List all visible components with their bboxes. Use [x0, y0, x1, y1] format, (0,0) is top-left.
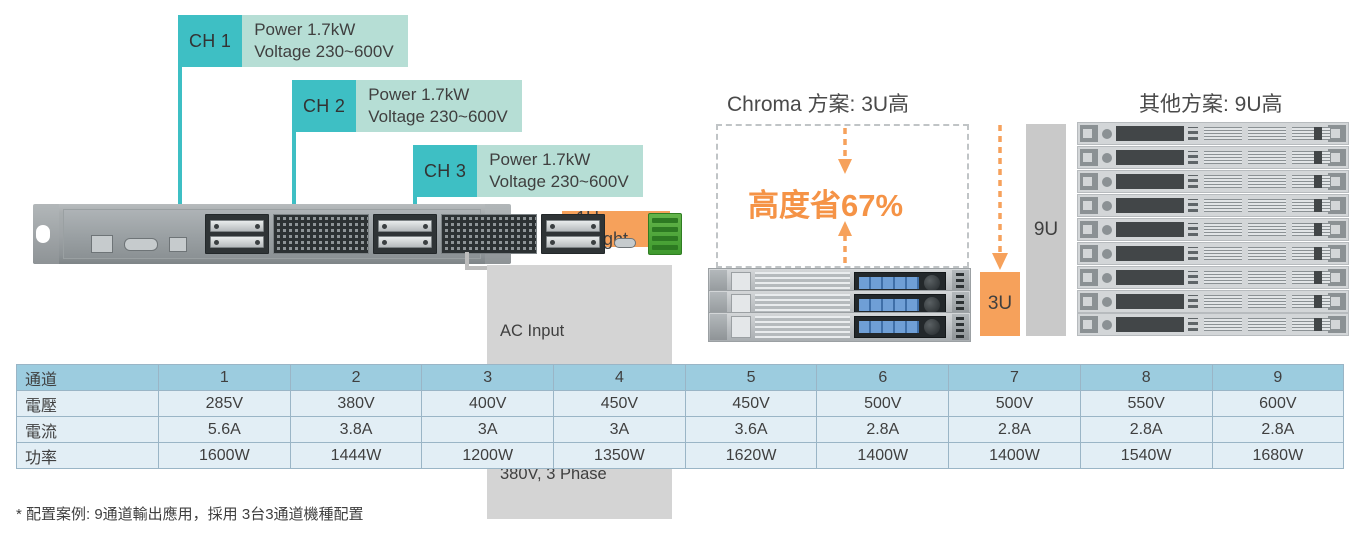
unit-ear-left — [1080, 221, 1098, 238]
table-cell: 1350W — [554, 443, 686, 469]
channel-2-power: Power 1.7kW — [368, 84, 507, 106]
unit-end-block — [1314, 271, 1322, 284]
channel-callout-2: CH 2 Power 1.7kW Voltage 230~600V — [292, 80, 522, 132]
unit-ear-left — [1080, 149, 1098, 166]
unit-vent-grill — [1292, 318, 1330, 331]
row-label-power: 功率 — [17, 443, 159, 469]
table-header-row: 通道 1 2 3 4 5 6 7 8 9 — [17, 365, 1344, 391]
unit-vent-grill — [1204, 127, 1242, 140]
unit-knob — [1102, 129, 1112, 139]
other-rack-unit — [1077, 146, 1349, 169]
ethernet-port — [91, 235, 113, 253]
unit-indicator-bars — [1188, 271, 1198, 284]
unit-knob — [1102, 201, 1112, 211]
other-rack-unit — [1077, 266, 1349, 289]
unit-vent-grill — [1248, 199, 1286, 212]
height-saving-text: 高度省67% — [748, 180, 903, 225]
footnote-text: * 配置案例: 9通道輸出應用，採用 3台3通道機種配置 — [16, 503, 364, 524]
unit-ear-left — [710, 314, 727, 340]
unit-ear-left — [1080, 269, 1098, 286]
table-cell: 3.6A — [685, 417, 817, 443]
usb-port — [169, 237, 187, 252]
small-switch — [614, 238, 636, 248]
unit-dial-knob — [924, 319, 940, 335]
table-cell: 2.8A — [817, 417, 949, 443]
channel-1-connector — [205, 214, 269, 254]
channel-1-voltage: Voltage 230~600V — [254, 41, 393, 63]
unit-knob — [1102, 153, 1112, 163]
unit-ear-right — [1328, 269, 1346, 286]
unit-indicator-bars — [1188, 199, 1198, 212]
unit-ear-right — [1328, 197, 1346, 214]
terminal-pin — [652, 236, 678, 241]
table-row-power: 功率 1600W 1444W 1200W 1350W 1620W 1400W 1… — [17, 443, 1344, 469]
unit-vent-grill — [1292, 151, 1330, 164]
table-cell: 285V — [159, 391, 291, 417]
unit-vent-grill — [1248, 223, 1286, 236]
chroma-height-bar-3u: 3U — [980, 272, 1020, 336]
jack — [378, 220, 432, 232]
unit-vent-grill — [1292, 127, 1330, 140]
unit-indicator-bars — [1188, 175, 1198, 188]
unit-dial-knob — [924, 297, 940, 313]
table-header-cell: 8 — [1080, 365, 1212, 391]
chroma-solution-title: Chroma 方案: 3U高 — [727, 88, 909, 118]
table-cell: 2.8A — [1212, 417, 1344, 443]
table-cell: 1600W — [159, 443, 291, 469]
unit-vent-grill — [1248, 175, 1286, 188]
unit-display-panel — [1116, 126, 1184, 141]
unit-knob — [1102, 320, 1112, 330]
table-cell: 500V — [817, 391, 949, 417]
unit-display-panel — [1116, 222, 1184, 237]
other-rack-unit — [1077, 194, 1349, 217]
table-cell: 600V — [1212, 391, 1344, 417]
unit-vent-grill — [1292, 247, 1330, 260]
table-header-cell: 5 — [685, 365, 817, 391]
unit-display-panel — [1116, 246, 1184, 261]
unit-ear-left — [1080, 293, 1098, 310]
channel-1-specs: Power 1.7kW Voltage 230~600V — [242, 15, 407, 67]
other-rack-unit — [1077, 242, 1349, 265]
table-cell: 1540W — [1080, 443, 1212, 469]
unit-vent-grill — [1248, 151, 1286, 164]
table-cell: 500V — [949, 391, 1081, 417]
ear-slot-left — [36, 225, 50, 243]
unit-knob — [1102, 177, 1112, 187]
table-cell: 450V — [554, 391, 686, 417]
unit-vent-grill — [1248, 247, 1286, 260]
unit-indicator-bars — [1188, 295, 1198, 308]
unit-display-panel — [1116, 270, 1184, 285]
unit-dial-knob — [924, 275, 940, 291]
unit-vent-grill — [1204, 175, 1242, 188]
table-header-cell: 4 — [554, 365, 686, 391]
unit-vent-grill — [1248, 271, 1286, 284]
unit-vent-grill — [1292, 223, 1330, 236]
terminal-pin — [652, 227, 678, 232]
unit-vent-grill — [1248, 318, 1286, 331]
channel-2-voltage: Voltage 230~600V — [368, 106, 507, 128]
channel-3-connector — [541, 214, 605, 254]
ch2-connector-line — [292, 125, 296, 212]
table-cell: 2.8A — [949, 417, 1081, 443]
table-row-voltage: 電壓 285V 380V 400V 450V 450V 500V 500V 55… — [17, 391, 1344, 417]
table-cell: 550V — [1080, 391, 1212, 417]
unit-display-panel — [1116, 150, 1184, 165]
unit-vent-slots — [755, 316, 850, 338]
vent-grill-1 — [273, 214, 369, 254]
channel-callout-1: CH 1 Power 1.7kW Voltage 230~600V — [178, 15, 408, 67]
unit-indicator-dots — [956, 316, 964, 338]
unit-ear-right — [1328, 316, 1346, 333]
unit-ear-left — [1080, 197, 1098, 214]
unit-end-block — [1314, 127, 1322, 140]
device-front-panel — [63, 209, 481, 259]
rack-device-1u — [33, 204, 511, 264]
table-cell: 1444W — [290, 443, 422, 469]
channel-callout-3: CH 3 Power 1.7kW Voltage 230~600V — [413, 145, 643, 197]
chroma-3u-stack — [708, 268, 971, 336]
unit-ear-left — [1080, 245, 1098, 262]
table-header-cell: 1 — [159, 365, 291, 391]
unit-vent-grill — [1204, 247, 1242, 260]
other-rack-unit — [1077, 313, 1349, 336]
unit-display-panel — [1116, 294, 1184, 309]
unit-knob — [1102, 225, 1112, 235]
unit-indicator-bars — [1188, 247, 1198, 260]
unit-indicator-bars — [1188, 127, 1198, 140]
jack — [210, 236, 264, 248]
table-header-cell: 9 — [1212, 365, 1344, 391]
unit-vent-grill — [1292, 295, 1330, 308]
vent-grill-2 — [441, 214, 537, 254]
unit-end-block — [1314, 295, 1322, 308]
unit-vent-grill — [1204, 223, 1242, 236]
table-cell: 400V — [422, 391, 554, 417]
unit-vent-grill — [1204, 199, 1242, 212]
ch1-connector-line — [178, 60, 182, 212]
unit-vent-grill — [1248, 127, 1286, 140]
unit-vent-grill — [1204, 295, 1242, 308]
channel-3-tag: CH 3 — [413, 145, 477, 197]
table-cell: 1620W — [685, 443, 817, 469]
height-drop-arrow — [991, 125, 1009, 271]
unit-vent-grill — [1292, 175, 1330, 188]
unit-end-block — [1314, 151, 1322, 164]
unit-end-block — [1314, 223, 1322, 236]
jack — [546, 220, 600, 232]
saving-arrow-up — [836, 221, 854, 267]
serial-port — [124, 238, 158, 251]
unit-ear-left — [1080, 125, 1098, 142]
table-cell: 1680W — [1212, 443, 1344, 469]
channel-1-power: Power 1.7kW — [254, 19, 393, 41]
table-cell: 2.8A — [1080, 417, 1212, 443]
device-ear-left — [33, 204, 59, 264]
unit-end-block — [1314, 175, 1322, 188]
unit-ear-right — [1328, 125, 1346, 142]
table-cell: 1200W — [422, 443, 554, 469]
unit-ear-right — [1328, 173, 1346, 190]
channel-3-specs: Power 1.7kW Voltage 230~600V — [477, 145, 642, 197]
unit-indicator-bars — [1188, 318, 1198, 331]
unit-vent-grill — [1204, 318, 1242, 331]
row-label-voltage: 電壓 — [17, 391, 159, 417]
unit-screen — [859, 321, 919, 333]
unit-screen — [859, 299, 919, 311]
unit-display-panel — [1116, 198, 1184, 213]
unit-vent-grill — [1292, 199, 1330, 212]
spec-table: 通道 1 2 3 4 5 6 7 8 9 電壓 285V 380V 400V 4… — [16, 364, 1344, 469]
table-header-label: 通道 — [17, 365, 159, 391]
table-header-cell: 2 — [290, 365, 422, 391]
ac-input-title: AC Input — [500, 320, 659, 344]
table-cell: 3A — [422, 417, 554, 443]
table-header-cell: 6 — [817, 365, 949, 391]
other-9u-stack — [1077, 122, 1349, 336]
channel-3-voltage: Voltage 230~600V — [489, 171, 628, 193]
channel-2-specs: Power 1.7kW Voltage 230~600V — [356, 80, 521, 132]
unit-end-block — [1314, 199, 1322, 212]
unit-ear-right — [1328, 245, 1346, 262]
unit-knob — [1102, 249, 1112, 259]
table-cell: 1400W — [949, 443, 1081, 469]
unit-indicator-bars — [1188, 223, 1198, 236]
other-rack-unit — [1077, 170, 1349, 193]
unit-end-block — [1314, 247, 1322, 260]
unit-end-block — [1314, 318, 1322, 331]
saving-arrow-down — [836, 128, 854, 176]
other-height-bar-9u: 9U — [1026, 124, 1066, 336]
table-cell: 3.8A — [290, 417, 422, 443]
unit-knob — [1102, 273, 1112, 283]
unit-ear-right — [1328, 293, 1346, 310]
unit-display-panel — [1116, 174, 1184, 189]
table-cell: 450V — [685, 391, 817, 417]
terminal-pin — [652, 218, 678, 223]
table-header-cell: 7 — [949, 365, 1081, 391]
channel-1-tag: CH 1 — [178, 15, 242, 67]
row-label-current: 電流 — [17, 417, 159, 443]
terminal-pin — [652, 245, 678, 250]
table-cell: 380V — [290, 391, 422, 417]
unit-ear-left — [1080, 173, 1098, 190]
table-row-current: 電流 5.6A 3.8A 3A 3A 3.6A 2.8A 2.8A 2.8A 2… — [17, 417, 1344, 443]
unit-indicator-bars — [1188, 151, 1198, 164]
unit-control-box — [731, 316, 751, 338]
table-header-cell: 3 — [422, 365, 554, 391]
table-cell: 3A — [554, 417, 686, 443]
jack — [546, 236, 600, 248]
ac-terminal-block — [648, 213, 682, 255]
channel-2-tag: CH 2 — [292, 80, 356, 132]
jack — [378, 236, 432, 248]
channel-3-power: Power 1.7kW — [489, 149, 628, 171]
jack — [210, 220, 264, 232]
unit-knob — [1102, 297, 1112, 307]
other-rack-unit — [1077, 122, 1349, 145]
unit-vent-grill — [1204, 151, 1242, 164]
chroma-rack-unit — [708, 312, 971, 342]
unit-display-panel — [854, 316, 946, 338]
channel-2-connector — [373, 214, 437, 254]
unit-ear-left — [1080, 316, 1098, 333]
unit-ear-right — [1328, 221, 1346, 238]
unit-vent-grill — [1248, 295, 1286, 308]
other-rack-unit — [1077, 290, 1349, 313]
unit-display-panel — [1116, 317, 1184, 332]
unit-ear-right — [1328, 149, 1346, 166]
unit-vent-grill — [1204, 271, 1242, 284]
other-solution-title: 其他方案: 9U高 — [1139, 88, 1283, 118]
table-cell: 1400W — [817, 443, 949, 469]
other-rack-unit — [1077, 218, 1349, 241]
table-cell: 5.6A — [159, 417, 291, 443]
unit-screen — [859, 277, 919, 289]
unit-vent-grill — [1292, 271, 1330, 284]
